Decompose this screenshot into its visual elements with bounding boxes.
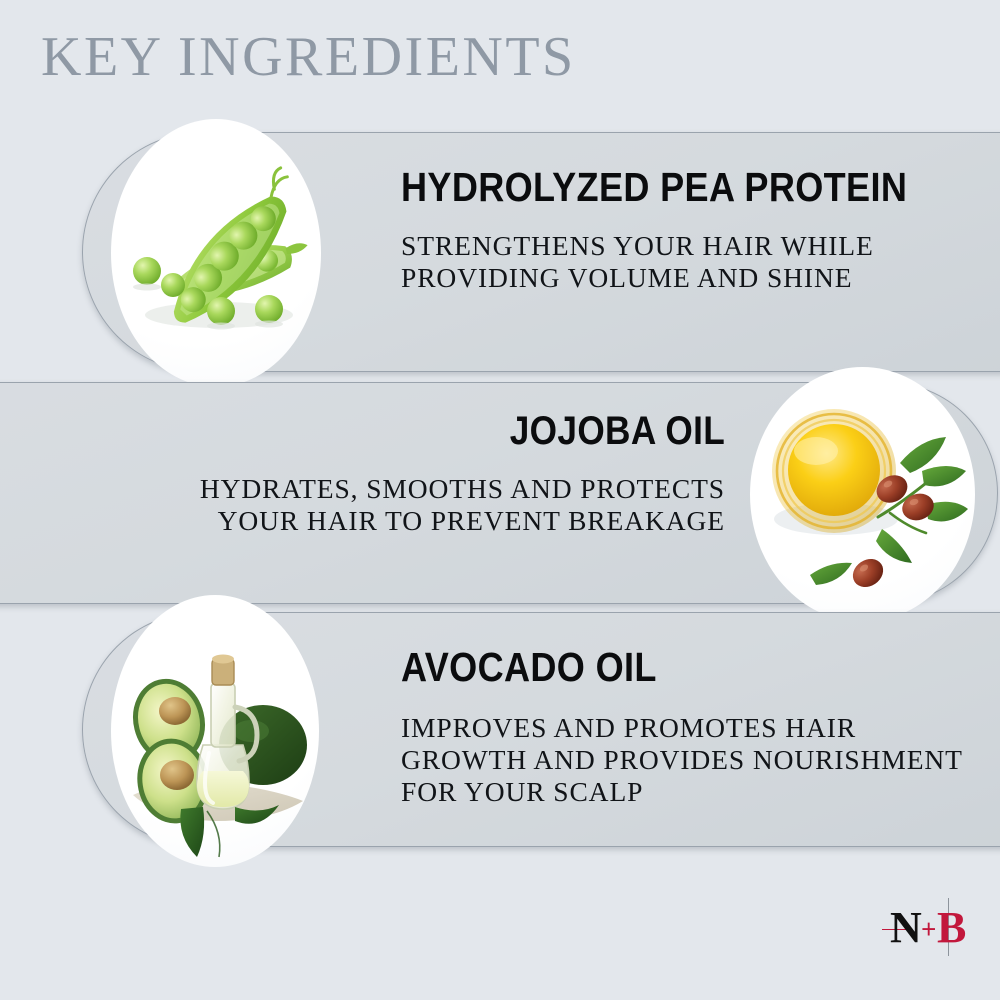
- jojoba-oil-bowl-illustration: [750, 367, 975, 622]
- logo-plus-sign: +: [921, 916, 936, 943]
- description-line: IMPROVES AND PROMOTES HAIR: [401, 712, 963, 744]
- description-line: HYDRATES, SMOOTHS AND PROTECTS: [200, 473, 725, 505]
- logo-letter-b: B: [937, 906, 966, 950]
- ingredient-description-avocado-oil: IMPROVES AND PROMOTES HAIR GROWTH AND PR…: [401, 712, 963, 809]
- brand-logo: N + B: [888, 902, 974, 964]
- description-line: YOUR HAIR TO PREVENT BREAKAGE: [200, 505, 725, 537]
- ingredient-text-jojoba-oil: JOJOBA OIL HYDRATES, SMOOTHS AND PROTECT…: [200, 411, 725, 537]
- ingredient-card-jojoba-oil: JOJOBA OIL HYDRATES, SMOOTHS AND PROTECT…: [0, 382, 998, 604]
- page-title: KEY INGREDIENTS: [41, 28, 576, 87]
- logo-letter-n: N: [890, 906, 921, 950]
- ingredient-card-hydrolyzed-pea-protein: HYDROLYZED PEA PROTEIN STRENGTHENS YOUR …: [82, 132, 1000, 372]
- avocado-oil-bottle-illustration: [111, 595, 319, 867]
- description-line: GROWTH AND PROVIDES NOURISHMENT: [401, 744, 963, 776]
- ingredient-card-avocado-oil: AVOCADO OIL IMPROVES AND PROMOTES HAIR G…: [82, 612, 1000, 847]
- ingredient-heading-avocado-oil: AVOCADO OIL: [401, 647, 895, 688]
- ingredient-description-hydrolyzed-pea-protein: STRENGTHENS YOUR HAIR WHILE PROVIDING VO…: [401, 230, 976, 294]
- ingredient-heading-jojoba-oil: JOJOBA OIL: [263, 411, 725, 451]
- description-line: FOR YOUR SCALP: [401, 776, 963, 808]
- ingredient-description-jojoba-oil: HYDRATES, SMOOTHS AND PROTECTS YOUR HAIR…: [200, 473, 725, 537]
- description-line: STRENGTHENS YOUR HAIR WHILE: [401, 230, 976, 262]
- ingredient-text-avocado-oil: AVOCADO OIL IMPROVES AND PROMOTES HAIR G…: [401, 647, 963, 809]
- ingredient-heading-hydrolyzed-pea-protein: HYDROLYZED PEA PROTEIN: [401, 167, 907, 208]
- pea-pods-illustration: [111, 119, 321, 387]
- description-line: PROVIDING VOLUME AND SHINE: [401, 262, 976, 294]
- ingredient-text-hydrolyzed-pea-protein: HYDROLYZED PEA PROTEIN STRENGTHENS YOUR …: [401, 167, 976, 294]
